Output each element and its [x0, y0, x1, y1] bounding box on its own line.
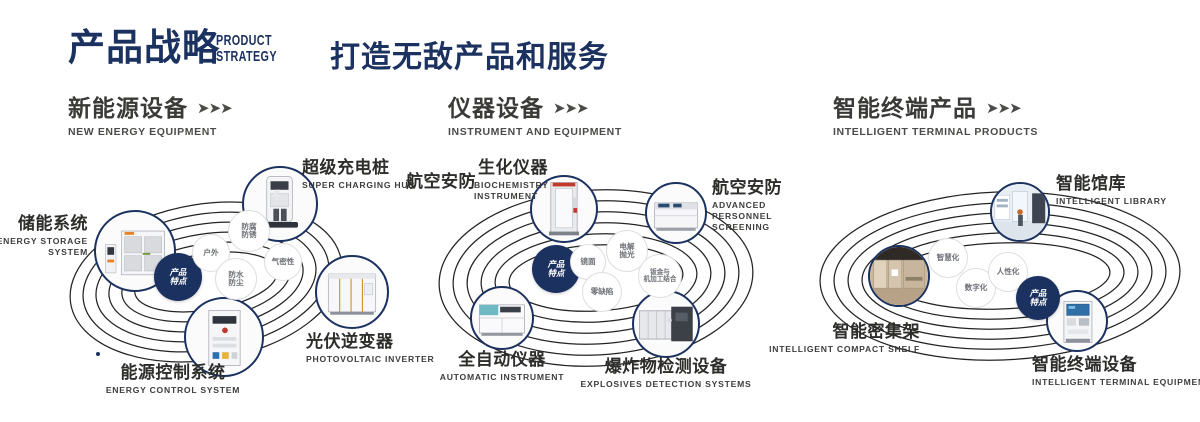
chevrons-right-icon: ➤➤➤	[986, 96, 1021, 122]
node-label-intelligent-compact-shelf: 智能密集架 INTELLIGENT COMPACT SHELF	[720, 322, 920, 355]
node-label-en: INTELLIGENT TERMINAL EQUIPMENT	[1032, 377, 1200, 388]
feature-bubble-zero-defect[interactable]: 零缺陷	[582, 272, 622, 312]
node-label-en: INTELLIGENT COMPACT SHELF	[720, 344, 920, 355]
node-label-cn: 智能终端设备	[1032, 355, 1200, 375]
node-label-energy-control-system: 能源控制系统 ENERGY CONTROL SYSTEM	[58, 363, 288, 396]
section-title-cn-text: 智能终端产品	[833, 95, 977, 121]
node-label-cn: 航空安防	[712, 178, 796, 198]
section-title-cn: 仪器设备➤➤➤	[448, 95, 622, 122]
diagram-intelligent-terminal: 智能馆库 INTELLIGENT LIBRARY 智能终端设备 INTELLIG…	[800, 150, 1200, 412]
feature-bubble-core[interactable]: 产品 特点	[1016, 276, 1060, 320]
node-circle-automatic-instrument[interactable]	[470, 286, 534, 350]
feature-bubble-anticorrosion[interactable]: 防腐 防锈	[228, 210, 270, 252]
node-label-energy-storage: 储能系统 ENERGY STORAGE SYSTEM	[0, 214, 88, 258]
node-label-intelligent-terminal-equipment: 智能终端设备 INTELLIGENT TERMINAL EQUIPMENT	[1032, 355, 1200, 388]
node-label-en: ENERGY STORAGE SYSTEM	[0, 236, 88, 258]
page-title: 产品战略	[68, 26, 220, 70]
feature-core-line2: 特点	[170, 277, 187, 286]
section-title-cn-text: 新能源设备	[68, 95, 188, 121]
node-label-biochemistry-instrument: 生化仪器 BIOCHEMISTRY INSTRUMENT	[478, 158, 548, 202]
node-label-cn: 能源控制系统	[58, 363, 288, 383]
page-title-en-line2: STRATEGY	[216, 49, 277, 65]
node-label-intelligent-library: 智能馆库 INTELLIGENT LIBRARY	[1056, 174, 1167, 207]
page-title-en-line1: PRODUCT	[216, 33, 277, 49]
section-title-cn: 智能终端产品➤➤➤	[833, 95, 1038, 122]
compact-shelf-icon	[870, 247, 928, 305]
node-label-en: INTELLIGENT LIBRARY	[1056, 196, 1167, 207]
section-title-cn-text: 仪器设备	[448, 95, 544, 121]
library-room-icon	[992, 184, 1048, 240]
page-subtitle: 打造无敌产品和服务	[330, 32, 609, 76]
section-heading-instrument: 仪器设备➤➤➤ INSTRUMENT AND EQUIPMENT	[448, 95, 622, 138]
feature-bubble-airtight[interactable]: 气密性	[264, 243, 302, 281]
section-title-en: INSTRUMENT AND EQUIPMENT	[448, 126, 622, 138]
node-label-cn: 智能密集架	[720, 322, 920, 342]
node-label-cn: 航空安防	[406, 172, 476, 192]
node-circle-intelligent-library[interactable]	[990, 182, 1050, 242]
section-title-en: INTELLIGENT TERMINAL PRODUCTS	[833, 126, 1038, 138]
page-title-english: PRODUCT STRATEGY	[216, 33, 277, 65]
section-title-cn: 新能源设备➤➤➤	[68, 95, 232, 122]
inverter-cabinet-icon	[317, 257, 387, 327]
diagram-new-energy: 储能系统 ENERGY STORAGE SYSTEM 超级充电桩 SUPER C…	[10, 150, 410, 412]
node-label-cn: 全自动仪器	[394, 350, 610, 370]
feature-bubble-sheetmetal-machining[interactable]: 钣金与 机加工结合	[638, 254, 682, 298]
node-label-cn: 超级充电桩	[302, 158, 415, 178]
page-header: 产品战略 PRODUCT STRATEGY 打造无敌产品和服务	[0, 0, 1200, 88]
chevrons-right-icon: ➤➤➤	[553, 96, 588, 122]
poster-canvas: 产品战略 PRODUCT STRATEGY 打造无敌产品和服务 新能源设备➤➤➤…	[0, 0, 1200, 422]
detection-unit-icon	[634, 292, 698, 356]
feature-core-line2: 特点	[1030, 298, 1047, 307]
node-label-automatic-instrument: 全自动仪器 AUTOMATIC INSTRUMENT	[394, 350, 610, 383]
node-circle-photovoltaic-inverter[interactable]	[315, 255, 389, 329]
section-heading-new-energy: 新能源设备➤➤➤ NEW ENERGY EQUIPMENT	[68, 95, 232, 138]
node-circle-explosives-detection[interactable]	[632, 290, 700, 358]
node-label-en: BIOCHEMISTRY INSTRUMENT	[474, 180, 530, 202]
auto-analyzer-icon	[472, 288, 532, 348]
node-label-en: SUPER CHARGING HUB	[302, 180, 415, 191]
node-label-cn: 储能系统	[0, 214, 88, 234]
node-label-aviation-security-overlay: 航空安防	[406, 172, 476, 192]
feature-core-line2: 特点	[548, 269, 565, 278]
section-heading-intelligent: 智能终端产品➤➤➤ INTELLIGENT TERMINAL PRODUCTS	[833, 95, 1038, 138]
node-label-super-charging-hub: 超级充电桩 SUPER CHARGING HUB	[302, 158, 415, 191]
diagram-instrument: 航空安防 生化仪器 BIOCHEMISTRY INSTRUMENT	[400, 150, 800, 412]
chevrons-right-icon: ➤➤➤	[197, 96, 232, 122]
node-label-en: ADVANCED PERSONNEL SCREENING	[712, 200, 796, 233]
node-label-cn: 生化仪器	[478, 158, 548, 178]
feature-bubble-waterproof[interactable]: 防水 防尘	[215, 258, 257, 300]
scanner-machine-icon	[647, 184, 705, 242]
node-label-advanced-personnel-screening: 航空安防 ADVANCED PERSONNEL SCREENING	[712, 178, 796, 233]
node-circle-intelligent-compact-shelf[interactable]	[868, 245, 930, 307]
node-label-cn: 智能馆库	[1056, 174, 1167, 194]
section-title-en: NEW ENERGY EQUIPMENT	[68, 126, 232, 138]
node-label-en: ENERGY CONTROL SYSTEM	[58, 385, 288, 396]
node-circle-advanced-personnel-screening[interactable]	[645, 182, 707, 244]
node-label-en: AUTOMATIC INSTRUMENT	[394, 372, 610, 383]
